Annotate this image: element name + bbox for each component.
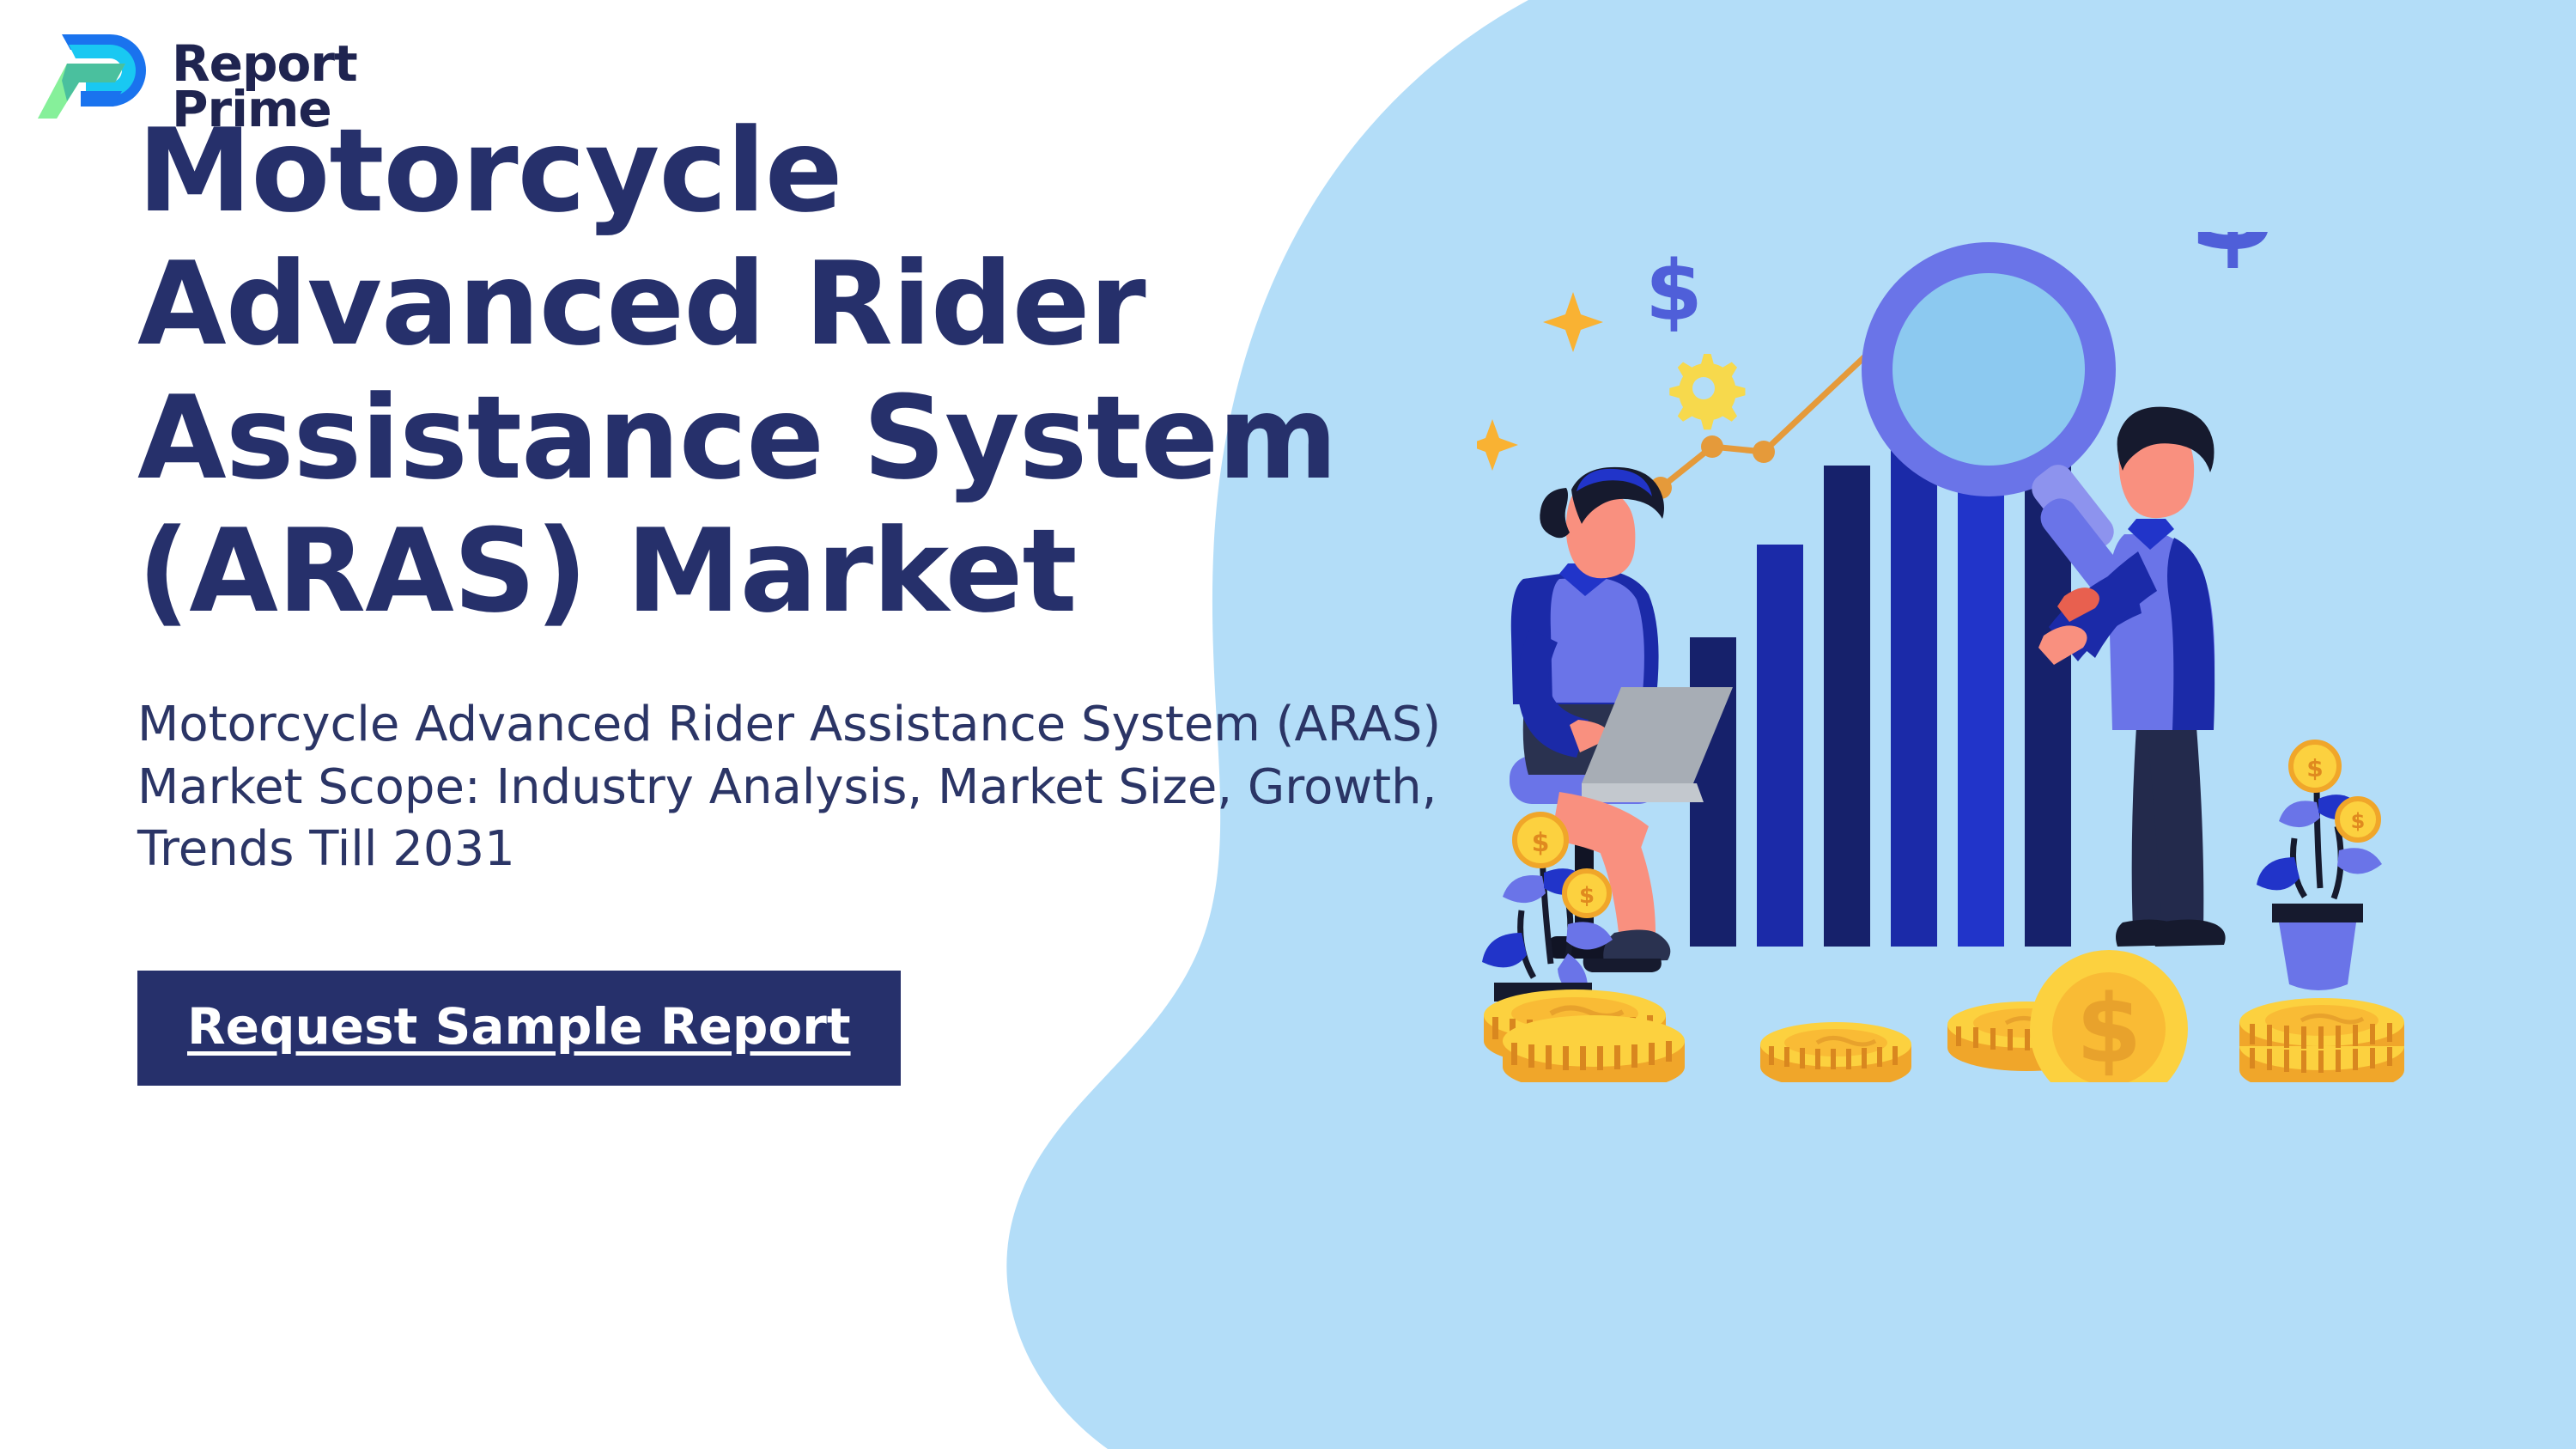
svg-text:$: $: [2351, 809, 2366, 833]
svg-text:$: $: [2076, 974, 2142, 1082]
report-banner: Report Prime Motorcycle Advanced Rider A…: [0, 0, 2576, 1449]
money-plant-icon: $ $: [2257, 742, 2382, 990]
sparkle-icon: [1477, 419, 1518, 471]
svg-text:$: $: [1579, 883, 1595, 909]
dollar-sign-large-icon: $: [2188, 232, 2277, 280]
svg-text:$: $: [1532, 828, 1550, 858]
coin-stack-icon: [1503, 1015, 1685, 1082]
market-research-illustration: $ $: [1477, 232, 2439, 1082]
gear-icon: [1669, 354, 1745, 429]
svg-text:$: $: [2306, 754, 2323, 782]
cta-container: Request Sample Report: [137, 971, 1477, 1086]
coin-stack-icon: $: [2030, 950, 2188, 1082]
page-title: Motorcycle Advanced Rider Assistance Sys…: [137, 105, 1477, 639]
coin-stack-icon: [2239, 998, 2404, 1082]
hero-subtitle: Motorcycle Advanced Rider Assistance Sys…: [137, 694, 1485, 881]
coin-stack-icon: [1760, 1022, 1911, 1082]
svg-text:$: $: [1645, 243, 1703, 339]
hero-content: Motorcycle Advanced Rider Assistance Sys…: [137, 105, 1477, 1086]
dollar-sign-small-icon: $: [1645, 243, 1703, 339]
sparkle-icon: [1543, 292, 1603, 352]
request-sample-report-button[interactable]: Request Sample Report: [137, 971, 901, 1086]
svg-text:$: $: [2188, 232, 2277, 280]
